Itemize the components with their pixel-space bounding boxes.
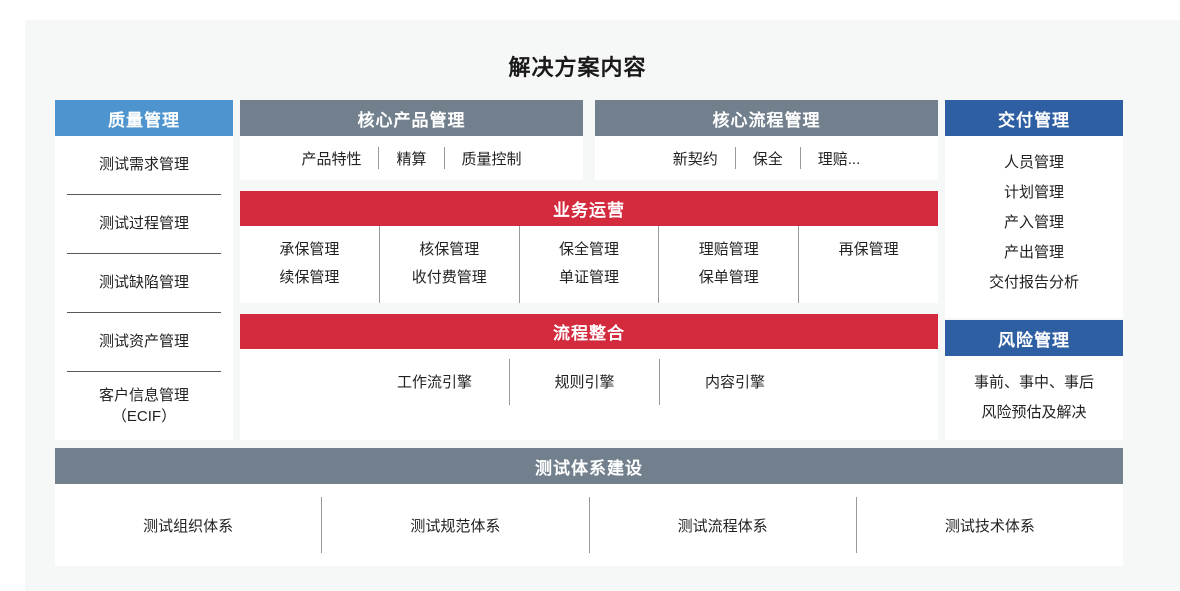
- core-product-items: 产品特性 精算 质量控制: [240, 136, 583, 180]
- list-item[interactable]: 人员管理: [953, 148, 1115, 178]
- list-item[interactable]: 事前、事中、事后: [953, 368, 1115, 398]
- core-product-header: 核心产品管理: [240, 100, 583, 136]
- middle-region: 核心产品管理 核心流程管理 产品特性 精算 质量控制 新契约 保全 理赔... …: [240, 100, 938, 440]
- list-item[interactable]: 测试资产管理: [67, 313, 221, 372]
- test-system-cell[interactable]: 测试规范体系: [322, 497, 589, 553]
- core-items-row: 产品特性 精算 质量控制 新契约 保全 理赔...: [240, 136, 938, 180]
- grid-column: 保全管理 单证管理: [520, 226, 660, 303]
- test-system-header: 测试体系建设: [55, 448, 1123, 484]
- grid-cell[interactable]: 理赔管理: [659, 235, 798, 263]
- grid-column: 再保管理: [799, 226, 938, 303]
- quality-management-card: 质量管理 测试需求管理 测试过程管理 测试缺陷管理 测试资产管理 客户信息管理 …: [55, 100, 233, 440]
- chip[interactable]: 理赔...: [801, 148, 878, 169]
- grid-column: 理赔管理 保单管理: [659, 226, 799, 303]
- test-system-items: 测试组织体系 测试规范体系 测试流程体系 测试技术体系: [55, 484, 1123, 566]
- chip[interactable]: 新契约: [656, 148, 735, 169]
- engine-cell[interactable]: 工作流引擎: [360, 359, 510, 405]
- engine-cell[interactable]: 内容引擎: [660, 359, 810, 405]
- grid-column: 承保管理 续保管理: [240, 226, 380, 303]
- quality-management-list: 测试需求管理 测试过程管理 测试缺陷管理 测试资产管理 客户信息管理 （ECIF…: [55, 136, 233, 441]
- grid-cell[interactable]: 核保管理: [380, 235, 519, 263]
- risk-management-header: 风险管理: [945, 320, 1123, 356]
- grid-cell[interactable]: 保全管理: [520, 235, 659, 263]
- chip[interactable]: 精算: [379, 148, 443, 169]
- list-item[interactable]: 风险预估及解决: [953, 398, 1115, 428]
- chip[interactable]: 产品特性: [284, 148, 378, 169]
- quality-management-header: 质量管理: [55, 100, 233, 136]
- process-integration-items: 工作流引擎 规则引擎 内容引擎: [240, 349, 938, 414]
- list-item[interactable]: 产出管理: [953, 238, 1115, 268]
- spacer: [240, 303, 938, 314]
- grid-column: 核保管理 收付费管理: [380, 226, 520, 303]
- items-gap: [583, 136, 595, 180]
- diagram-canvas: 解决方案内容 质量管理 测试需求管理 测试过程管理 测试缺陷管理 测试资产管理 …: [25, 20, 1180, 591]
- page-title: 解决方案内容: [25, 50, 1130, 82]
- grid-cell[interactable]: 收付费管理: [380, 263, 519, 291]
- delivery-management-card: 交付管理 人员管理 计划管理 产入管理 产出管理 交付报告分析: [945, 100, 1123, 318]
- list-item[interactable]: 计划管理: [953, 178, 1115, 208]
- delivery-management-header: 交付管理: [945, 100, 1123, 136]
- grid-cell[interactable]: 保单管理: [659, 263, 798, 291]
- header-gap: [583, 100, 595, 136]
- list-item[interactable]: 客户信息管理 （ECIF）: [67, 372, 221, 441]
- grid-cell[interactable]: 承保管理: [240, 235, 379, 263]
- business-operations-header: 业务运营: [240, 191, 938, 226]
- delivery-management-list: 人员管理 计划管理 产入管理 产出管理 交付报告分析: [945, 136, 1123, 298]
- grid-cell: [799, 263, 938, 291]
- grid-cell[interactable]: 续保管理: [240, 263, 379, 291]
- test-system-cell[interactable]: 测试组织体系: [55, 497, 322, 553]
- list-item[interactable]: 测试需求管理: [67, 136, 221, 195]
- list-item[interactable]: 交付报告分析: [953, 268, 1115, 298]
- core-process-header: 核心流程管理: [595, 100, 938, 136]
- process-integration-header: 流程整合: [240, 314, 938, 349]
- business-operations-grid: 承保管理 续保管理 核保管理 收付费管理 保全管理 单证管理 理赔管理 保单管理…: [240, 226, 938, 303]
- test-system-card: 测试体系建设 测试组织体系 测试规范体系 测试流程体系 测试技术体系: [55, 448, 1123, 566]
- list-item-line1: 客户信息管理: [99, 386, 189, 406]
- core-process-items: 新契约 保全 理赔...: [595, 136, 938, 180]
- risk-management-card: 风险管理 事前、事中、事后 风险预估及解决: [945, 320, 1123, 440]
- list-item-line2: （ECIF）: [99, 407, 189, 427]
- grid-cell[interactable]: 单证管理: [520, 263, 659, 291]
- test-system-cell[interactable]: 测试流程体系: [590, 497, 857, 553]
- risk-management-list: 事前、事中、事后 风险预估及解决: [945, 356, 1123, 428]
- list-item[interactable]: 测试缺陷管理: [67, 254, 221, 313]
- chip[interactable]: 质量控制: [445, 148, 539, 169]
- grid-cell[interactable]: 再保管理: [799, 235, 938, 263]
- chip[interactable]: 保全: [736, 148, 800, 169]
- list-item[interactable]: 产入管理: [953, 208, 1115, 238]
- spacer: [240, 180, 938, 191]
- test-system-cell[interactable]: 测试技术体系: [857, 497, 1123, 553]
- list-item[interactable]: 测试过程管理: [67, 195, 221, 254]
- engine-cell[interactable]: 规则引擎: [510, 359, 660, 405]
- core-headers-row: 核心产品管理 核心流程管理: [240, 100, 938, 136]
